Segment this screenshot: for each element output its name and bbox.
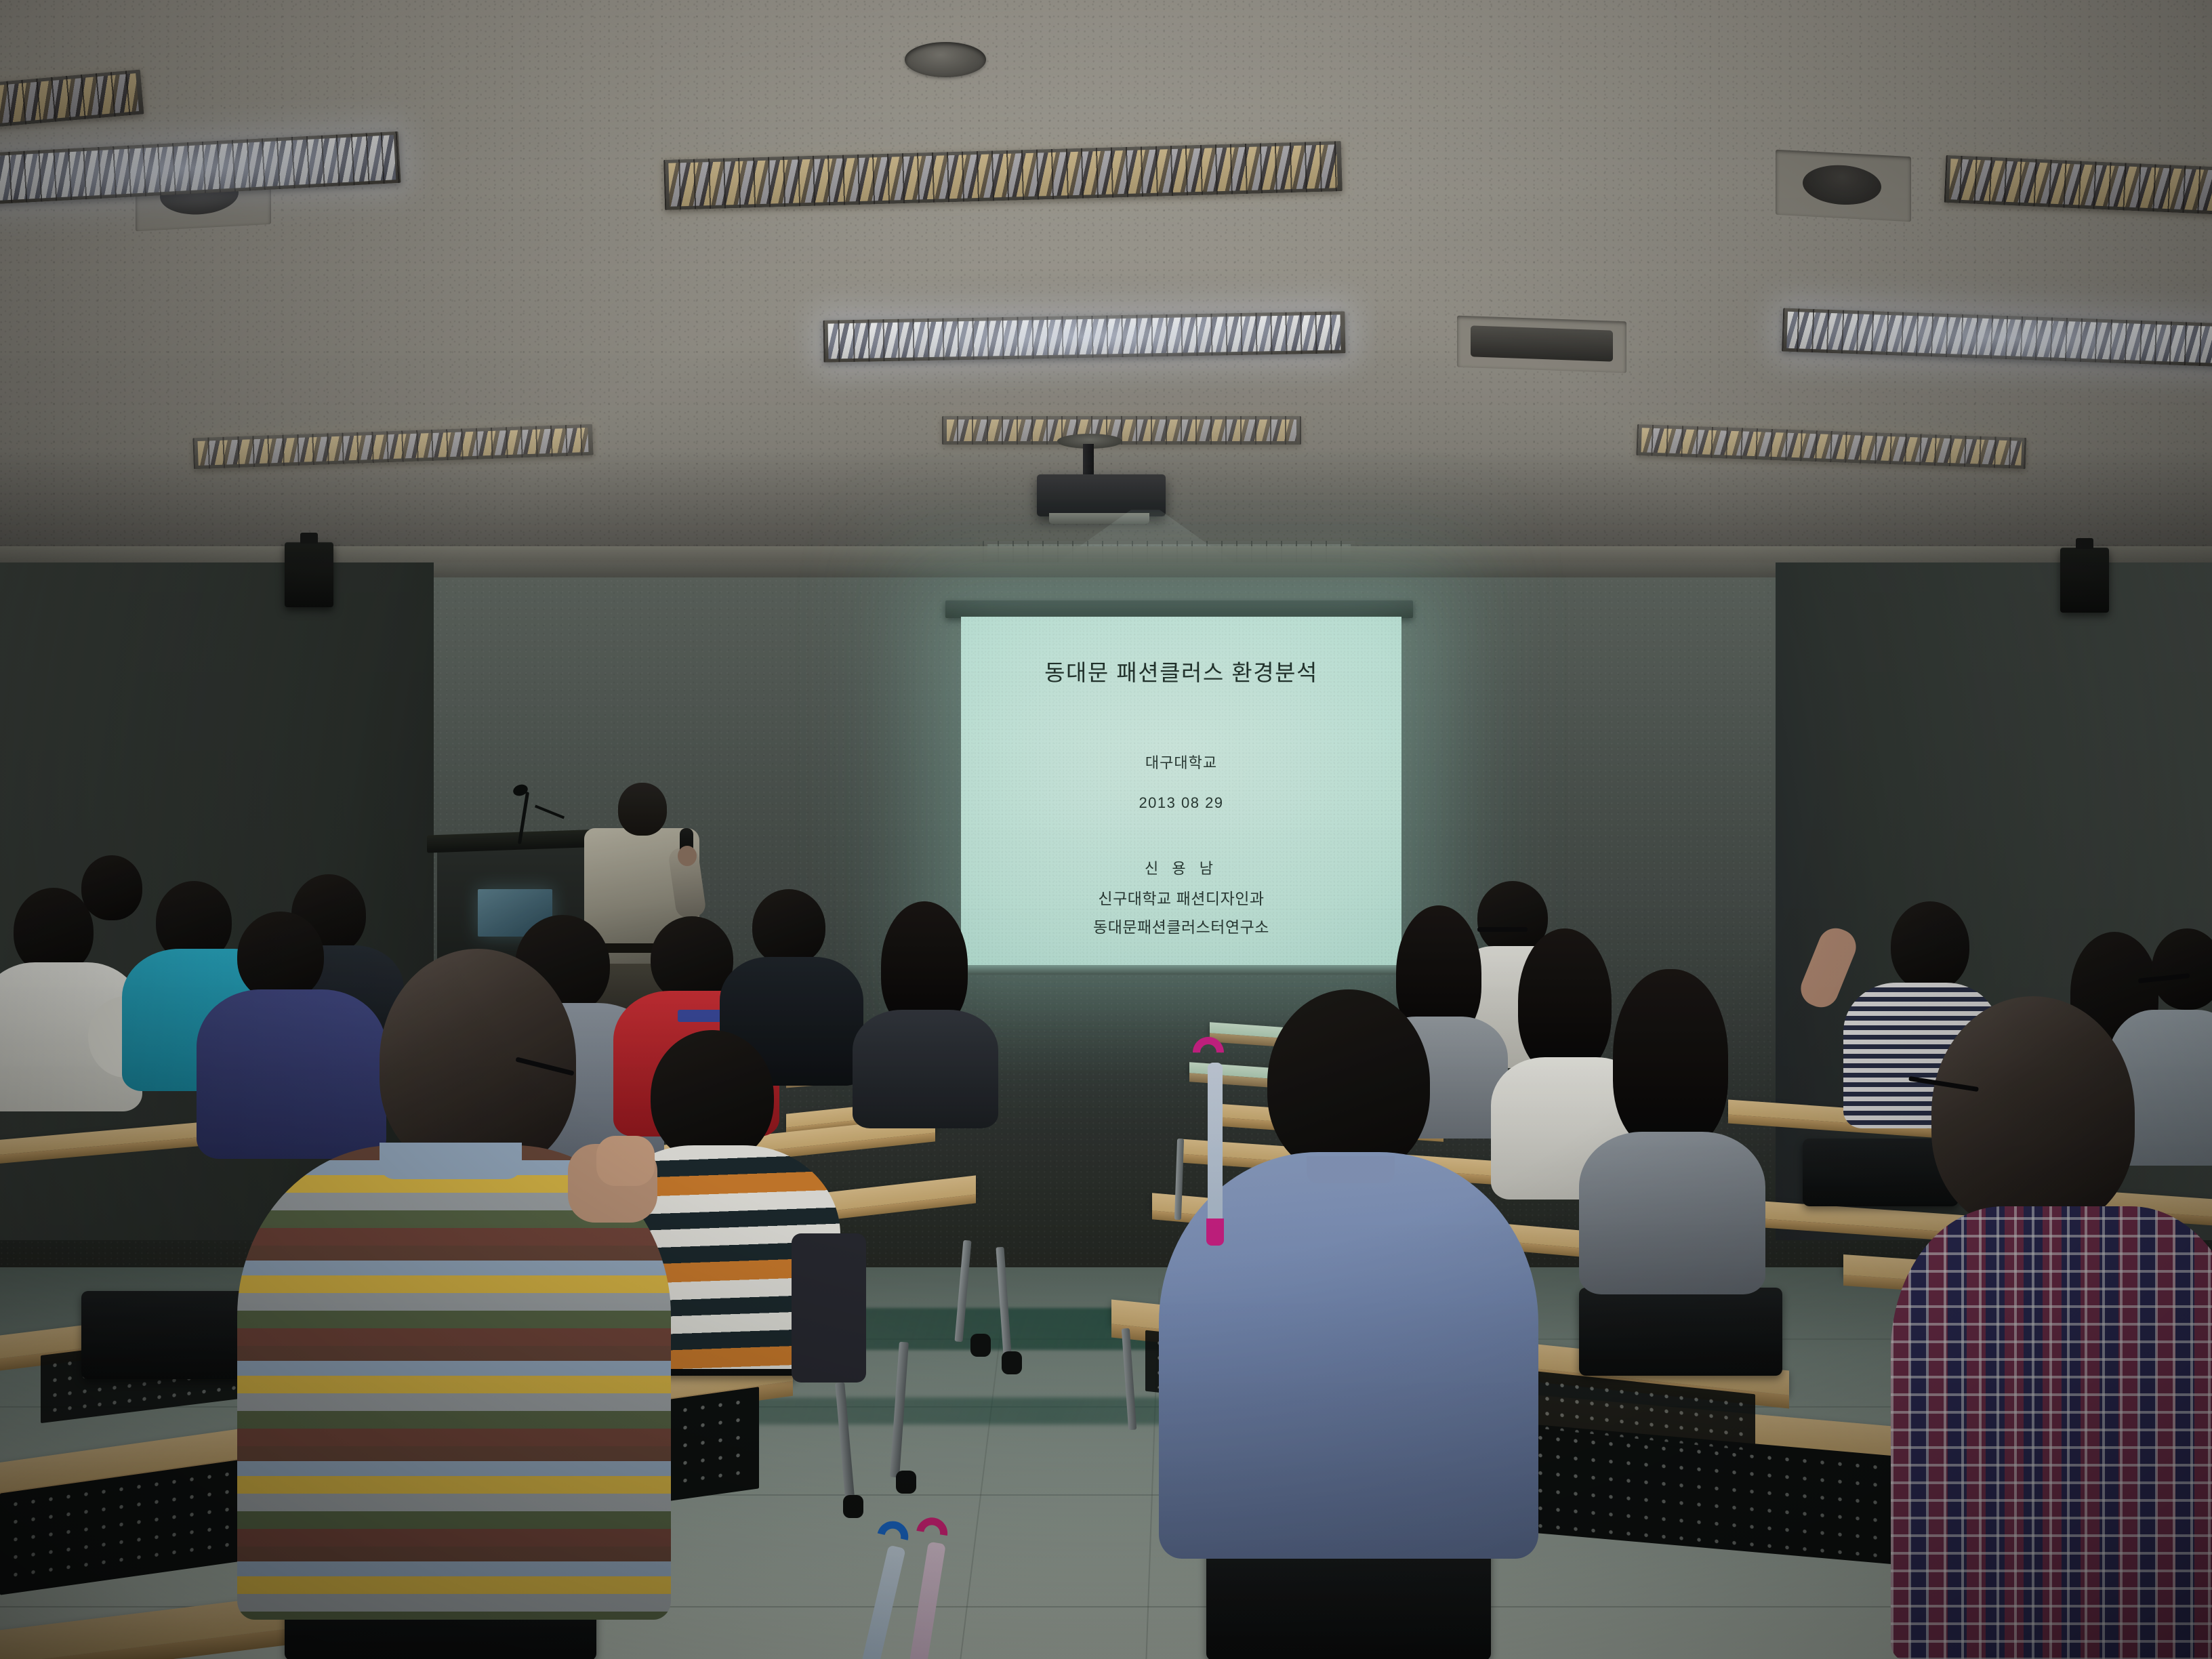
desk-caster [843, 1495, 863, 1518]
ceiling-vent-panel-icon [1457, 316, 1626, 373]
desk-caster [970, 1334, 991, 1357]
slide-affiliation-2: 동대문패션클러스터연구소 [1093, 914, 1269, 937]
hand [596, 1136, 655, 1186]
wall-speaker-right-icon [2060, 548, 2109, 613]
slide-date: 2013 08 29 [1139, 794, 1223, 812]
lecture-hall-photo: 동대문 패션클러스 환경분석 대구대학교 2013 08 29 신 용 남 신구… [0, 0, 2212, 1659]
projection-screen-bottom-bar [961, 965, 1401, 975]
desk-caster [896, 1471, 916, 1494]
presentation-slide: 동대문 패션클러스 환경분석 대구대학교 2013 08 29 신 용 남 신구… [961, 617, 1401, 969]
ceiling-speaker-icon [905, 42, 986, 77]
presenter-hand [678, 846, 697, 866]
slide-presenter-name: 신 용 남 [1145, 857, 1218, 878]
projection-screen: 동대문 패션클러스 환경분석 대구대학교 2013 08 29 신 용 남 신구… [961, 617, 1401, 969]
desk-caster [1002, 1351, 1022, 1374]
wall-speaker-left-icon [285, 542, 333, 607]
chair [1579, 1288, 1782, 1376]
shorts [792, 1233, 866, 1382]
presenter-head [618, 783, 667, 836]
slide-organization: 대구대학교 [1145, 751, 1217, 773]
slide-title: 동대문 패션클러스 환경분석 [1044, 655, 1318, 687]
ceiling-vent-right-icon [1776, 150, 1911, 222]
projection-screen-housing [945, 600, 1413, 618]
polo-collar [1307, 1156, 1395, 1183]
glasses-icon [1477, 927, 1528, 932]
polo-collar [380, 1143, 522, 1179]
slide-affiliation-1: 신구대학교 패션디자인과 [1098, 886, 1264, 909]
